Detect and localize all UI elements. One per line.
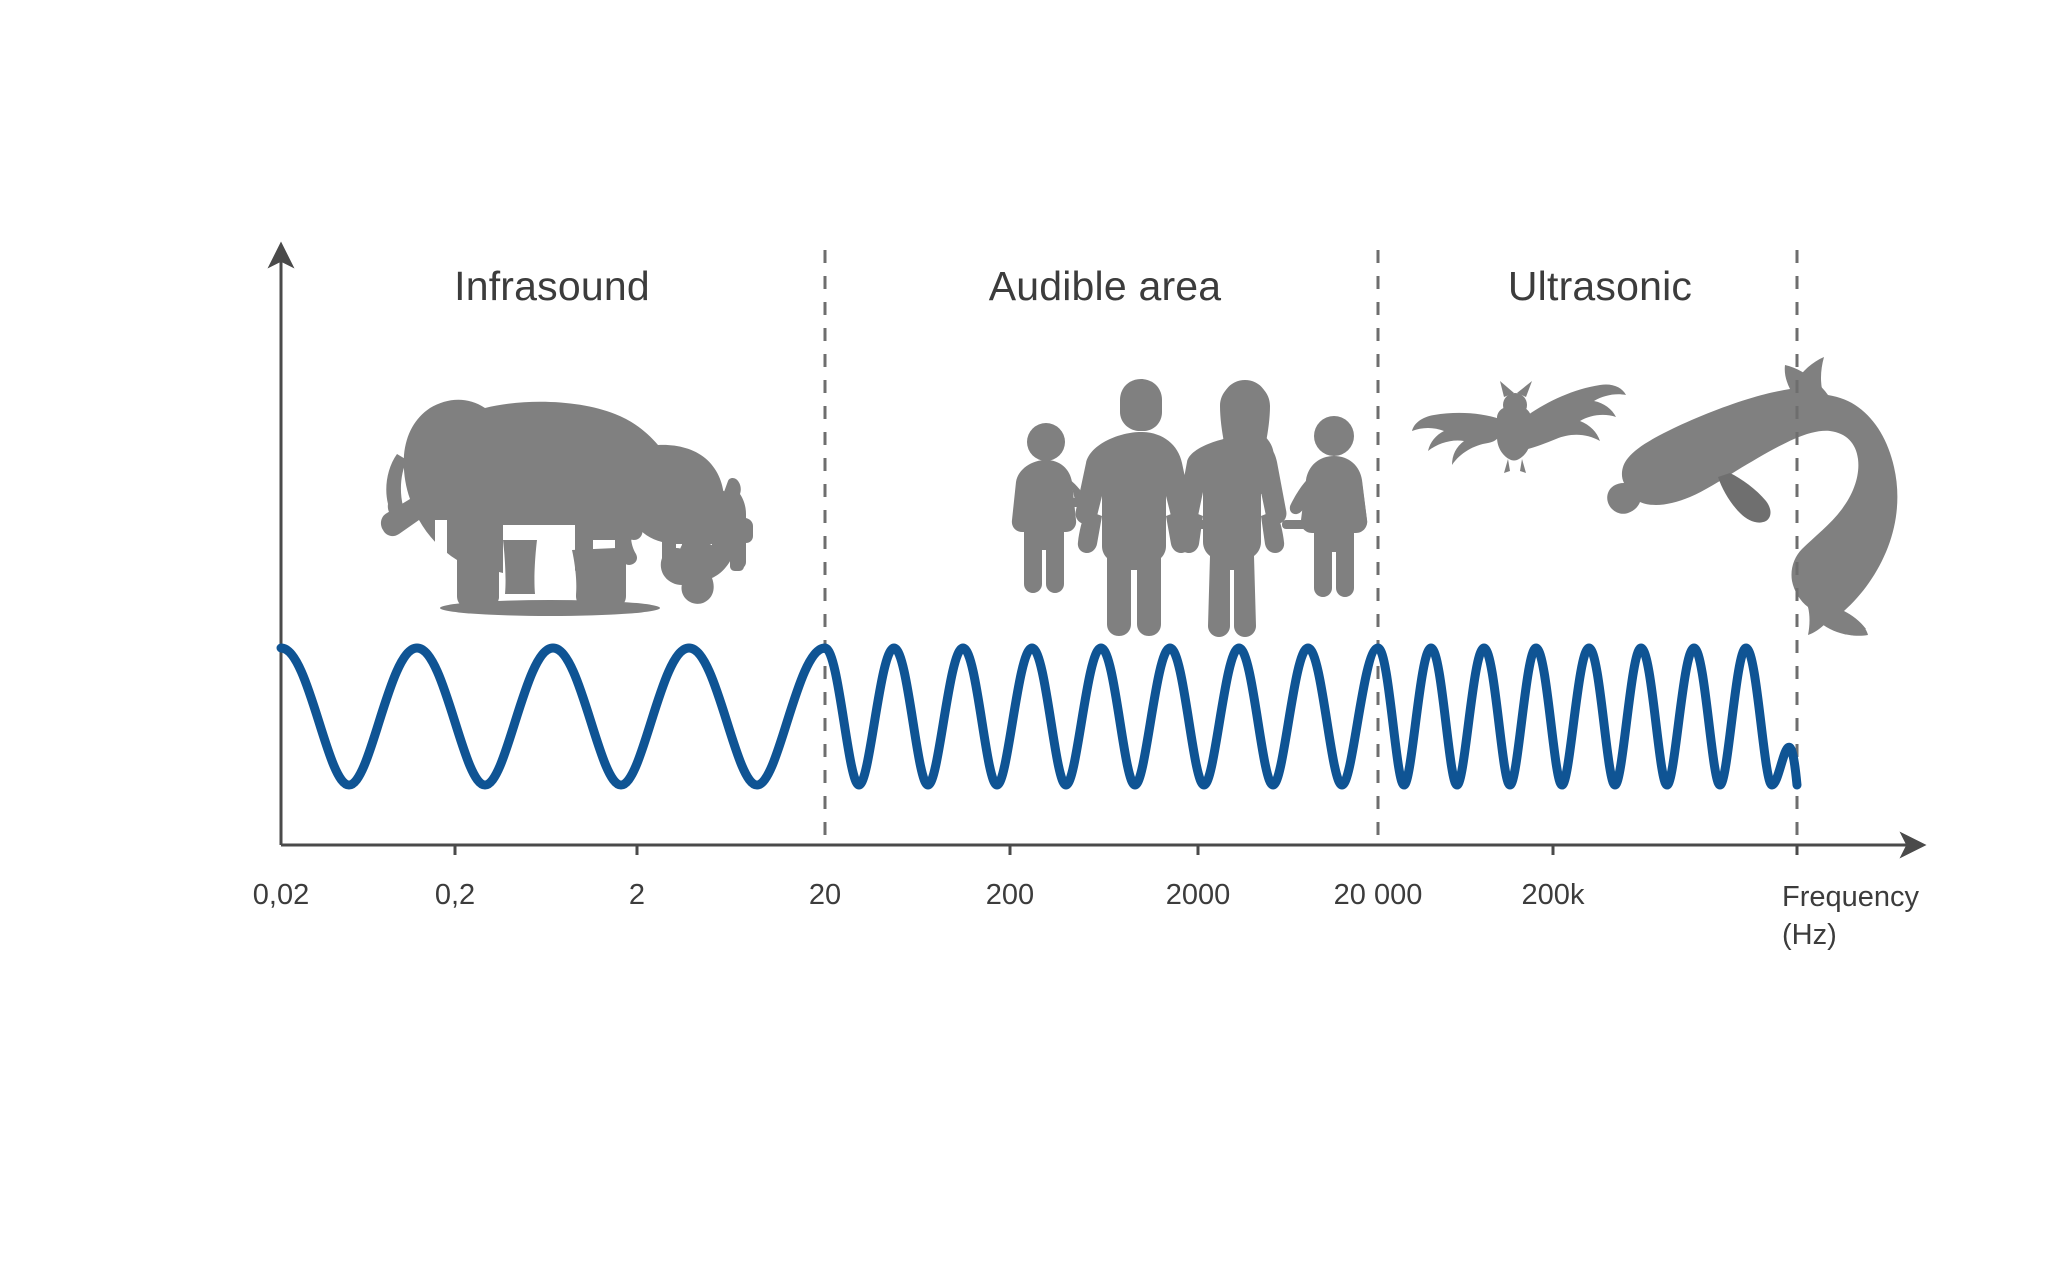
- tick-label-200: 200: [986, 881, 1034, 910]
- band-title-ultrasonic: Ultrasonic: [1508, 266, 1692, 307]
- band-dividers: [825, 250, 1797, 845]
- tick-label-2000: 2000: [1166, 881, 1231, 910]
- tick-label-20: 20: [809, 881, 841, 910]
- x-axis-caption-line2: (Hz): [1782, 916, 1919, 954]
- tick-label-0-2: 0,2: [435, 881, 475, 910]
- plot-layer: [0, 0, 2048, 1286]
- band-title-audible-area: Audible area: [989, 266, 1222, 307]
- tick-label-200k: 200k: [1522, 881, 1585, 910]
- x-axis-caption: Frequency (Hz): [1782, 878, 1919, 955]
- figure-canvas: Infrasound Audible area Ultrasonic 0,02 …: [0, 0, 2048, 1286]
- tick-label-2: 2: [629, 881, 645, 910]
- tick-label-20000: 20 000: [1334, 881, 1423, 910]
- x-axis-caption-line1: Frequency: [1782, 878, 1919, 916]
- tick-label-0-02: 0,02: [253, 881, 309, 910]
- band-title-infrasound: Infrasound: [454, 266, 650, 307]
- sound-wave-path: [281, 648, 1797, 785]
